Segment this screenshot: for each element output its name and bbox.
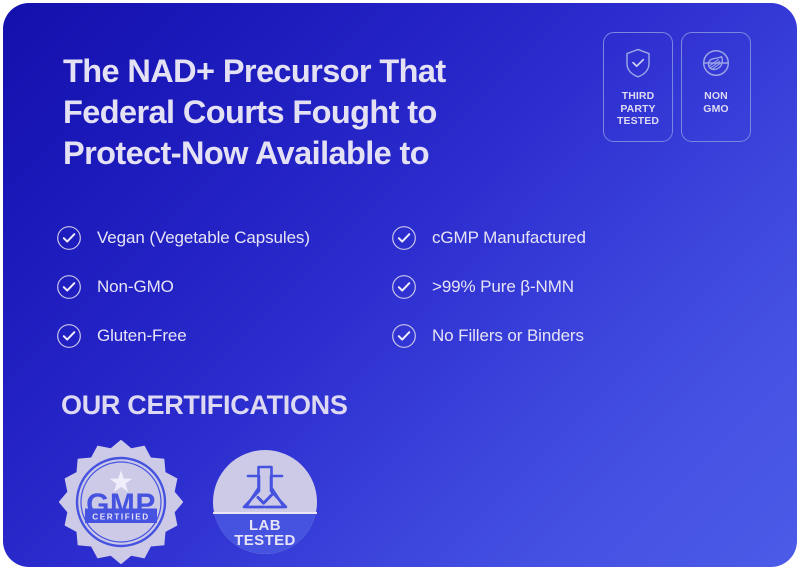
check-circle-icon xyxy=(391,225,417,251)
badge-third-party-tested: THIRD PARTY TESTED xyxy=(603,32,673,142)
gmp-sub-text: CERTIFIED xyxy=(92,513,150,522)
feature-label: cGMP Manufactured xyxy=(432,228,586,248)
gmp-certified-seal-icon: GMP CERTIFIED xyxy=(59,440,183,564)
headline-line-1: The NAD+ Precursor That xyxy=(63,51,533,92)
list-item: Non-GMO xyxy=(56,274,310,300)
check-circle-icon xyxy=(56,225,82,251)
check-circle-icon xyxy=(391,323,417,349)
list-item: cGMP Manufactured xyxy=(391,225,586,251)
list-item: >99% Pure β-NMN xyxy=(391,274,586,300)
list-item: Gluten-Free xyxy=(56,323,310,349)
headline-line-2: Federal Courts Fought to xyxy=(63,92,533,133)
lab-line-2: TESTED xyxy=(234,532,296,549)
badge-line-2: GMO xyxy=(703,103,728,116)
badge-third-party-tested-label: THIRD PARTY TESTED xyxy=(617,90,659,128)
shield-check-icon xyxy=(621,46,655,80)
check-circle-icon xyxy=(56,274,82,300)
check-circle-icon xyxy=(56,323,82,349)
check-circle-icon xyxy=(391,274,417,300)
certifications-heading: OUR CERTIFICATIONS xyxy=(61,390,348,421)
feature-label: >99% Pure β-NMN xyxy=(432,277,574,297)
badge-line-1: NON xyxy=(703,90,728,103)
feature-label: Non-GMO xyxy=(97,277,174,297)
badge-non-gmo: NON GMO xyxy=(681,32,751,142)
feature-column-left: Vegan (Vegetable Capsules) Non-GMO Glute… xyxy=(56,225,310,372)
badge-line-3: TESTED xyxy=(617,115,659,128)
lab-tested-seal-icon: LAB TESTED xyxy=(210,447,320,557)
feature-label: Gluten-Free xyxy=(97,326,187,346)
certification-badge-group: THIRD PARTY TESTED NON GMO xyxy=(603,32,751,142)
certification-seal-group: GMP CERTIFIED LAB TESTED xyxy=(59,440,320,564)
non-gmo-leaf-icon xyxy=(699,46,733,80)
page-title: The NAD+ Precursor That Federal Courts F… xyxy=(63,51,533,174)
promo-card: The NAD+ Precursor That Federal Courts F… xyxy=(3,3,797,567)
badge-non-gmo-label: NON GMO xyxy=(703,90,728,115)
badge-line-2: PARTY xyxy=(617,103,659,116)
feature-label: Vegan (Vegetable Capsules) xyxy=(97,228,310,248)
feature-label: No Fillers or Binders xyxy=(432,326,584,346)
feature-column-right: cGMP Manufactured >99% Pure β-NMN No Fil… xyxy=(391,225,586,372)
headline-line-3: Protect-Now Available to xyxy=(63,133,533,174)
badge-line-1: THIRD xyxy=(617,90,659,103)
list-item: Vegan (Vegetable Capsules) xyxy=(56,225,310,251)
list-item: No Fillers or Binders xyxy=(391,323,586,349)
